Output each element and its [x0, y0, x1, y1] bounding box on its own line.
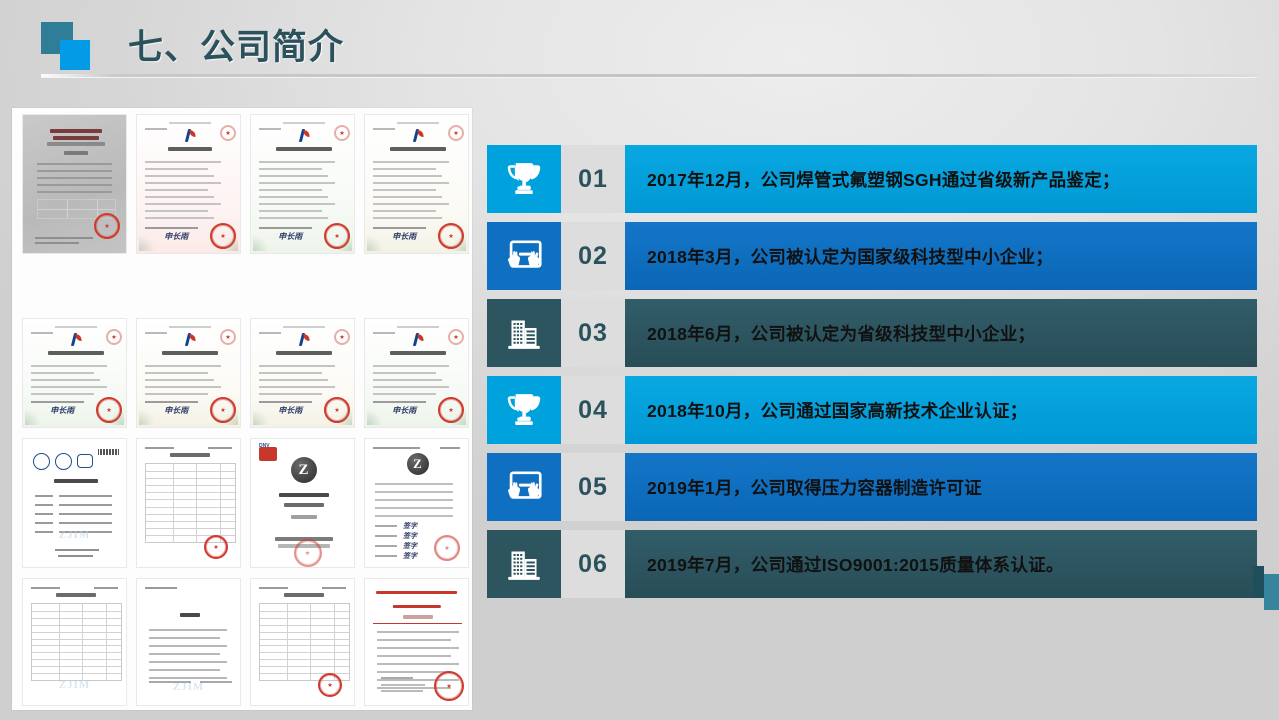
certificate-group-3: ZJIMDNVZZ签字签字签字签字 [12, 438, 482, 568]
milestone-text: 2018年3月，公司被认定为国家级科技型中小企业； [625, 222, 1257, 290]
official-seal-icon [434, 671, 464, 701]
official-seal-icon [94, 213, 120, 239]
milestone-text: 2019年1月，公司取得压力容器制造许可证 [625, 453, 1257, 521]
certificate-group-1: 申长雨申长雨申长雨 [12, 114, 482, 254]
trophy-icon [504, 390, 544, 430]
milestone-text: 2018年10月，公司通过国家高新技术企业认证； [625, 376, 1257, 444]
certificate-thumbnail-appraisal-cert [364, 578, 469, 706]
certificate-thumbnail-utility-patent: 申长雨 [364, 114, 469, 254]
milestone-icon-box [487, 145, 561, 213]
buildings-icon [504, 313, 544, 353]
milestone-row-03[interactable]: 032018年6月，公司被认定为省级科技型中小企业； [487, 299, 1257, 367]
certificate-thumbnail-data-table-report: ZJIM [22, 578, 127, 706]
official-seal-icon [434, 535, 460, 561]
slide-header: 七、公司简介 [0, 0, 1279, 90]
page-title: 七、公司简介 [128, 19, 344, 70]
tablet-hands-icon [504, 467, 544, 507]
certificate-signature: 申长雨 [164, 231, 188, 242]
milestone-text: 2018年6月，公司被认定为省级科技型中小企业； [625, 299, 1257, 367]
certificate-gallery-panel: 申长雨申长雨申长雨 申长雨申长雨申长雨申长雨 ZJIMDNVZZ签字签字签字签字… [12, 108, 472, 710]
milestone-icon-box [487, 530, 561, 598]
official-seal-icon [204, 535, 228, 559]
certificate-thumbnail-utility-patent: 申长雨 [136, 318, 241, 428]
certificate-group-2: 申长雨申长雨申长雨申长雨 [12, 318, 482, 428]
accent-bar-dark [1253, 566, 1264, 598]
certificate-group-4: ZJIMZJIM [12, 578, 482, 706]
milestone-icon-box [487, 299, 561, 367]
certificate-thumbnail-data-table-report [136, 438, 241, 568]
certificate-signature: 申长雨 [164, 405, 188, 416]
certificate-thumbnail-signed-record: Z签字签字签字签字 [364, 438, 469, 568]
accent-bar-light [1264, 574, 1279, 610]
buildings-icon [504, 544, 544, 584]
certificate-thumbnail-utility-patent: 申长雨 [22, 318, 127, 428]
milestone-row-06[interactable]: 062019年7月，公司通过ISO9001:2015质量体系认证。 [487, 530, 1257, 598]
tablet-hands-icon [504, 236, 544, 276]
edge-accent-decor [1253, 566, 1279, 610]
certificate-thumbnail-production-license [22, 114, 127, 254]
certificate-thumbnail-test-report: ZJIM [22, 438, 127, 568]
milestone-number-badge: 01 [561, 145, 625, 213]
certificate-signature: 申长雨 [278, 405, 302, 416]
certificate-thumbnail-statement-page: ZJIM [136, 578, 241, 706]
milestone-number-badge: 04 [561, 376, 625, 444]
milestone-row-01[interactable]: 012017年12月，公司焊管式氟塑钢SGH通过省级新产品鉴定； [487, 145, 1257, 213]
decor-square-light-icon [60, 40, 90, 70]
certificate-signature: 申长雨 [50, 405, 74, 416]
certificate-thumbnail-utility-patent: 申长雨 [250, 318, 355, 428]
milestone-list: 012017年12月，公司焊管式氟塑钢SGH通过省级新产品鉴定；022018年3… [487, 145, 1257, 607]
certificate-signature: 申长雨 [392, 231, 416, 242]
milestone-text: 2017年12月，公司焊管式氟塑钢SGH通过省级新产品鉴定； [625, 145, 1257, 213]
certificate-thumbnail-utility-patent: 申长雨 [250, 114, 355, 254]
official-seal-icon [294, 539, 322, 567]
certificate-thumbnail-dnv-certificate: DNVZ [250, 438, 355, 568]
certificate-thumbnail-utility-patent: 申长雨 [364, 318, 469, 428]
certificate-thumbnail-spec-table [250, 578, 355, 706]
slide-canvas: 七、公司简介 申长雨申长雨申长雨 申长雨申长雨申长雨申长雨 ZJIMDNVZZ签… [0, 0, 1279, 720]
milestone-number-badge: 05 [561, 453, 625, 521]
milestone-icon-box [487, 453, 561, 521]
milestone-text: 2019年7月，公司通过ISO9001:2015质量体系认证。 [625, 530, 1257, 598]
milestone-icon-box [487, 376, 561, 444]
milestone-row-04[interactable]: 042018年10月，公司通过国家高新技术企业认证； [487, 376, 1257, 444]
certificate-thumbnail-invention-patent: 申长雨 [136, 114, 241, 254]
milestone-number-badge: 02 [561, 222, 625, 290]
official-seal-icon [318, 673, 342, 697]
certificate-signature: 申长雨 [392, 405, 416, 416]
milestone-row-02[interactable]: 022018年3月，公司被认定为国家级科技型中小企业； [487, 222, 1257, 290]
title-divider [41, 74, 1257, 77]
certificate-signature: 申长雨 [278, 231, 302, 242]
milestone-number-badge: 03 [561, 299, 625, 367]
milestone-row-05[interactable]: 052019年1月，公司取得压力容器制造许可证 [487, 453, 1257, 521]
milestone-icon-box [487, 222, 561, 290]
trophy-icon [504, 159, 544, 199]
milestone-number-badge: 06 [561, 530, 625, 598]
